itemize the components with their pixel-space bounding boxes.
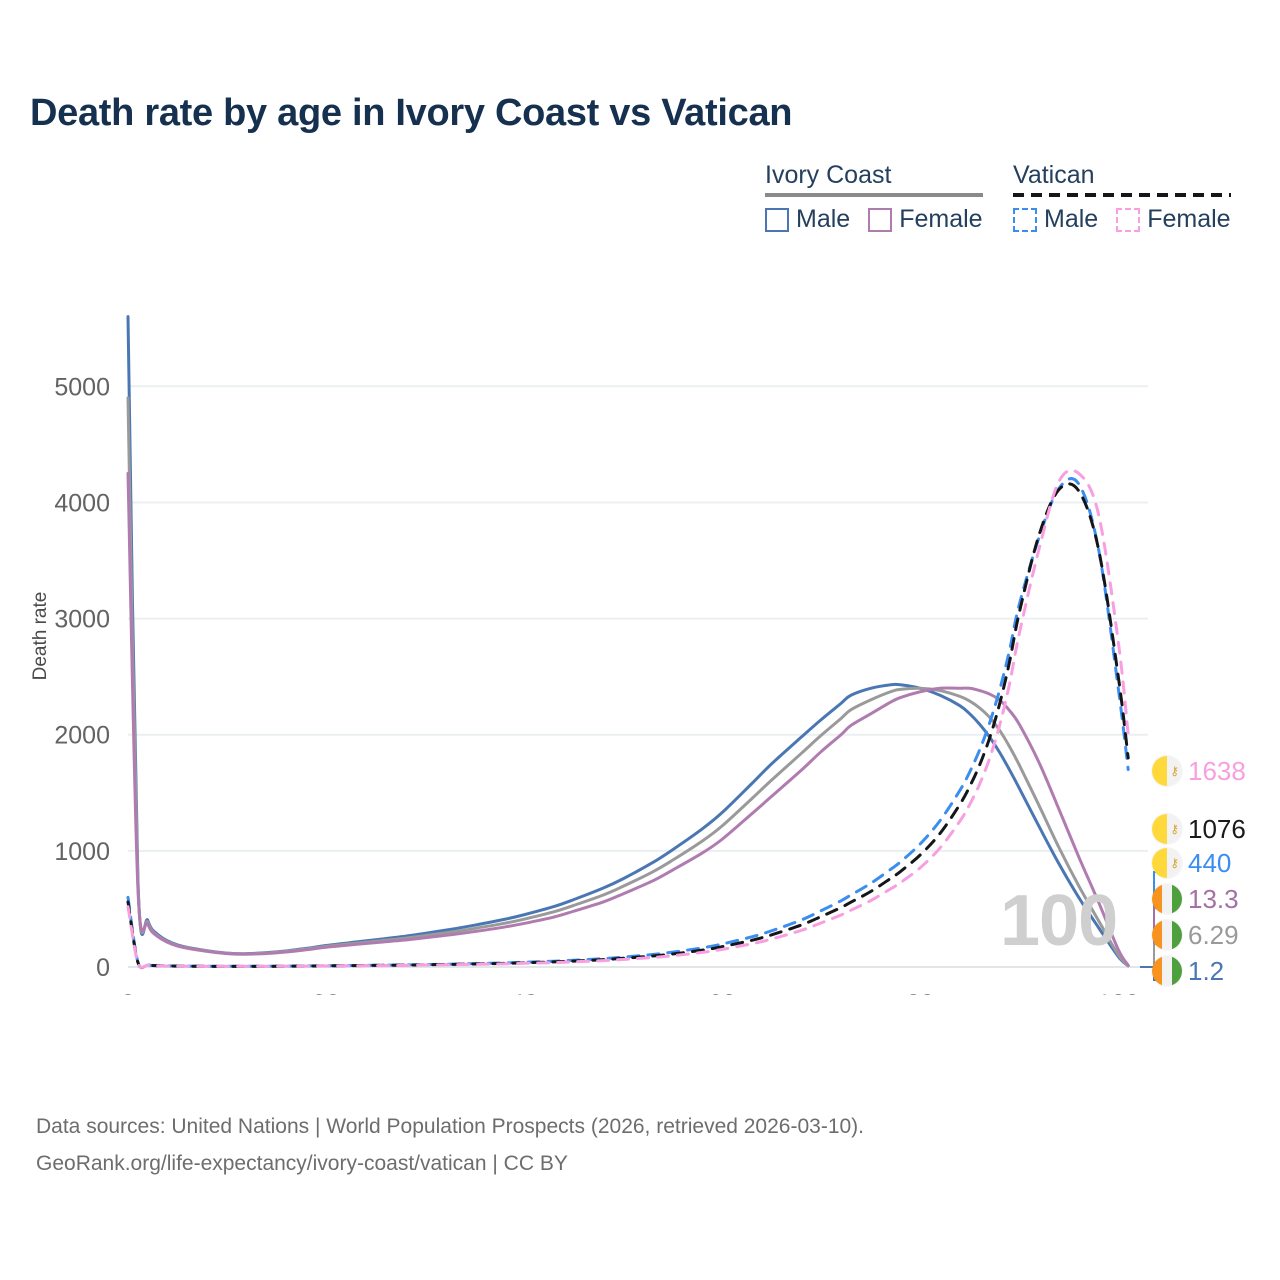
series-line [128, 398, 1128, 966]
legend-group-vatican: Vatican Male Female [1013, 160, 1231, 234]
footer-line-url: GeoRank.org/life-expectancy/ivory-coast/… [36, 1145, 864, 1182]
legend-item-label: Female [899, 205, 982, 234]
end-value-text: 440 [1188, 848, 1231, 879]
ivory-coast-flag-icon [1152, 884, 1182, 914]
legend-rule-solid [765, 193, 983, 197]
legend-item-label: Male [1044, 205, 1098, 234]
crossed-keys-icon: ⚷ [1170, 823, 1179, 835]
page-title: Death rate by age in Ivory Coast vs Vati… [30, 92, 792, 135]
vatican-flag-icon: ⚷ [1152, 814, 1182, 844]
legend-group-title: Vatican [1013, 160, 1231, 192]
chart-container: Death rate by age in Ivory Coast vs Vati… [0, 0, 1280, 1280]
legend-item-label: Male [796, 205, 850, 234]
end-value-row: 13.3 [1152, 882, 1239, 916]
end-value-text: 6.29 [1188, 920, 1239, 951]
legend-swatch-icon [1013, 208, 1037, 232]
series-line [128, 473, 1128, 965]
legend-swatch-icon [1116, 208, 1140, 232]
ivory-coast-flag-icon [1152, 956, 1182, 986]
svg-text:0: 0 [121, 990, 135, 995]
end-value-row: 6.29 [1152, 918, 1239, 952]
end-value-row: ⚷440 [1152, 846, 1231, 880]
svg-text:40: 40 [510, 990, 538, 995]
plot-svg: 010002000300040005000020406080100AgeDeat… [0, 295, 1280, 995]
end-value-text: 1.2 [1188, 956, 1224, 987]
legend-item-vatican-female[interactable]: Female [1116, 205, 1230, 234]
vatican-flag-icon: ⚷ [1152, 848, 1182, 878]
legend-item-ivory-female[interactable]: Female [868, 205, 982, 234]
chart-legend: Ivory Coast Male Female Vatican Male [755, 160, 1255, 245]
end-value-labels: ⚷1638⚷1076⚷44013.36.291.2 [1152, 740, 1280, 990]
end-value-row: ⚷1076 [1152, 812, 1246, 846]
legend-item-vatican-male[interactable]: Male [1013, 205, 1098, 234]
svg-text:Death rate: Death rate [30, 592, 51, 681]
legend-group-ivory-coast: Ivory Coast Male Female [765, 160, 983, 234]
svg-text:5000: 5000 [54, 373, 110, 401]
end-value-row: ⚷1638 [1152, 754, 1246, 788]
end-value-text: 1076 [1188, 814, 1246, 845]
ivory-coast-flag-icon [1152, 920, 1182, 950]
crossed-keys-icon: ⚷ [1170, 765, 1179, 777]
svg-text:80: 80 [906, 990, 934, 995]
plot-area: 010002000300040005000020406080100AgeDeat… [0, 295, 1280, 995]
vatican-flag-icon: ⚷ [1152, 756, 1182, 786]
svg-text:20: 20 [312, 990, 340, 995]
svg-text:3000: 3000 [54, 606, 110, 634]
crossed-keys-icon: ⚷ [1170, 857, 1179, 869]
series-line [128, 484, 1128, 968]
svg-text:0: 0 [96, 954, 110, 982]
legend-swatch-icon [868, 208, 892, 232]
series-line [128, 317, 1128, 966]
svg-text:60: 60 [708, 990, 736, 995]
footer: Data sources: United Nations | World Pop… [36, 1108, 864, 1182]
end-value-row: 1.2 [1152, 954, 1224, 988]
legend-item-ivory-male[interactable]: Male [765, 205, 850, 234]
legend-group-title: Ivory Coast [765, 160, 983, 192]
svg-text:1000: 1000 [54, 838, 110, 866]
end-value-text: 1638 [1188, 756, 1246, 787]
footer-line-sources: Data sources: United Nations | World Pop… [36, 1108, 864, 1145]
svg-text:4000: 4000 [54, 489, 110, 517]
end-value-text: 13.3 [1188, 884, 1239, 915]
svg-text:2000: 2000 [54, 722, 110, 750]
legend-item-label: Female [1147, 205, 1230, 234]
legend-swatch-icon [765, 208, 789, 232]
svg-text:100: 100 [1097, 990, 1139, 995]
legend-rule-dashed [1013, 193, 1231, 197]
